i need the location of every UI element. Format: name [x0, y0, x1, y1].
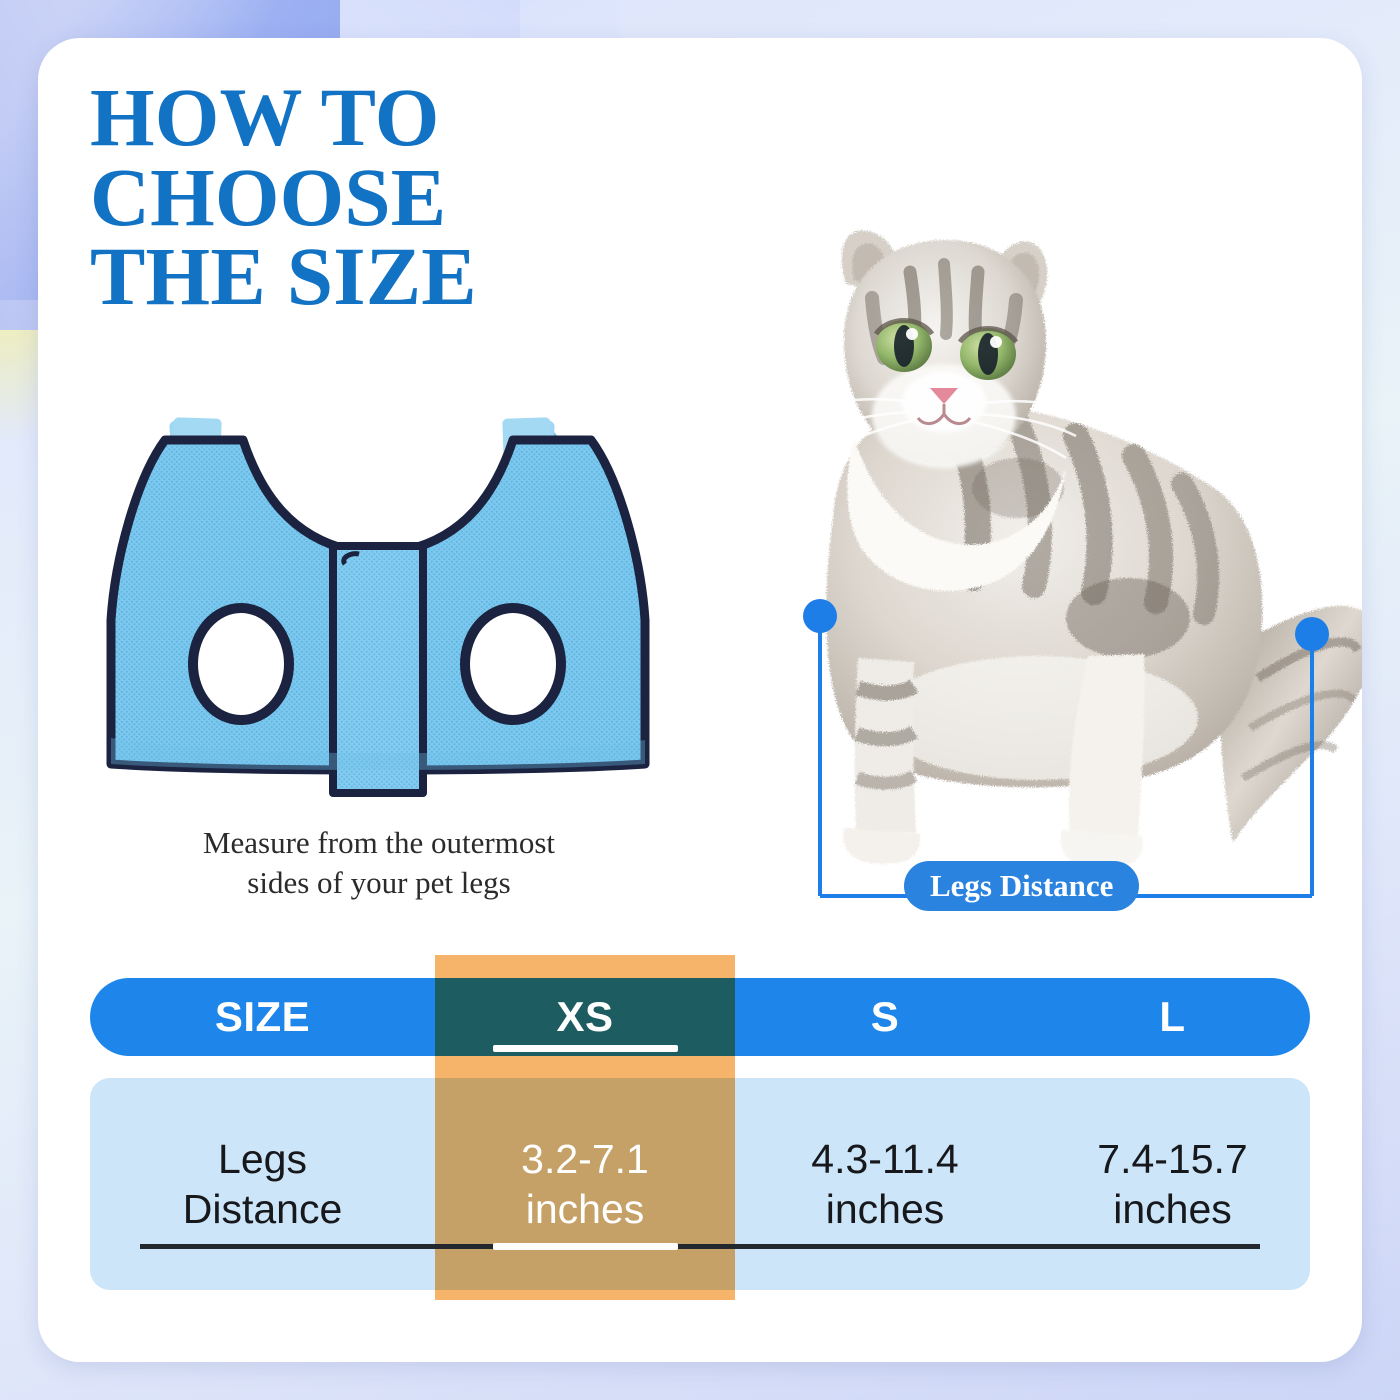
size-table-cell-l: 7.4-15.7 inches: [1035, 1100, 1310, 1268]
size-table-header-s: S: [735, 978, 1035, 1056]
xs-cell-underline: [493, 1243, 678, 1250]
xs-header-underline: [493, 1045, 678, 1052]
size-table-cell-s: 4.3-11.4 inches: [735, 1100, 1035, 1268]
legs-distance-badge: Legs Distance: [904, 861, 1139, 911]
size-table-header-size: SIZE: [90, 978, 435, 1056]
cell-l-range: 7.4-15.7: [1097, 1134, 1247, 1184]
cell-s-unit: inches: [811, 1184, 958, 1234]
row-label-line-2: Distance: [183, 1184, 343, 1234]
row-label-line-1: Legs: [183, 1134, 343, 1184]
cell-l-unit: inches: [1097, 1184, 1247, 1234]
size-table-row-label: Legs Distance: [90, 1100, 435, 1268]
cell-xs-unit: inches: [521, 1184, 649, 1234]
size-table-header-l: L: [1035, 978, 1310, 1056]
size-table: SIZE XS S L Legs Distance 3.2-7.1 inches…: [38, 38, 1362, 1362]
cell-xs-range: 3.2-7.1: [521, 1134, 649, 1184]
size-table-row-divider: [140, 1244, 1260, 1249]
cell-s-range: 4.3-11.4: [811, 1134, 958, 1184]
infographic-card: HOW TO CHOOSE THE SIZE: [38, 38, 1362, 1362]
